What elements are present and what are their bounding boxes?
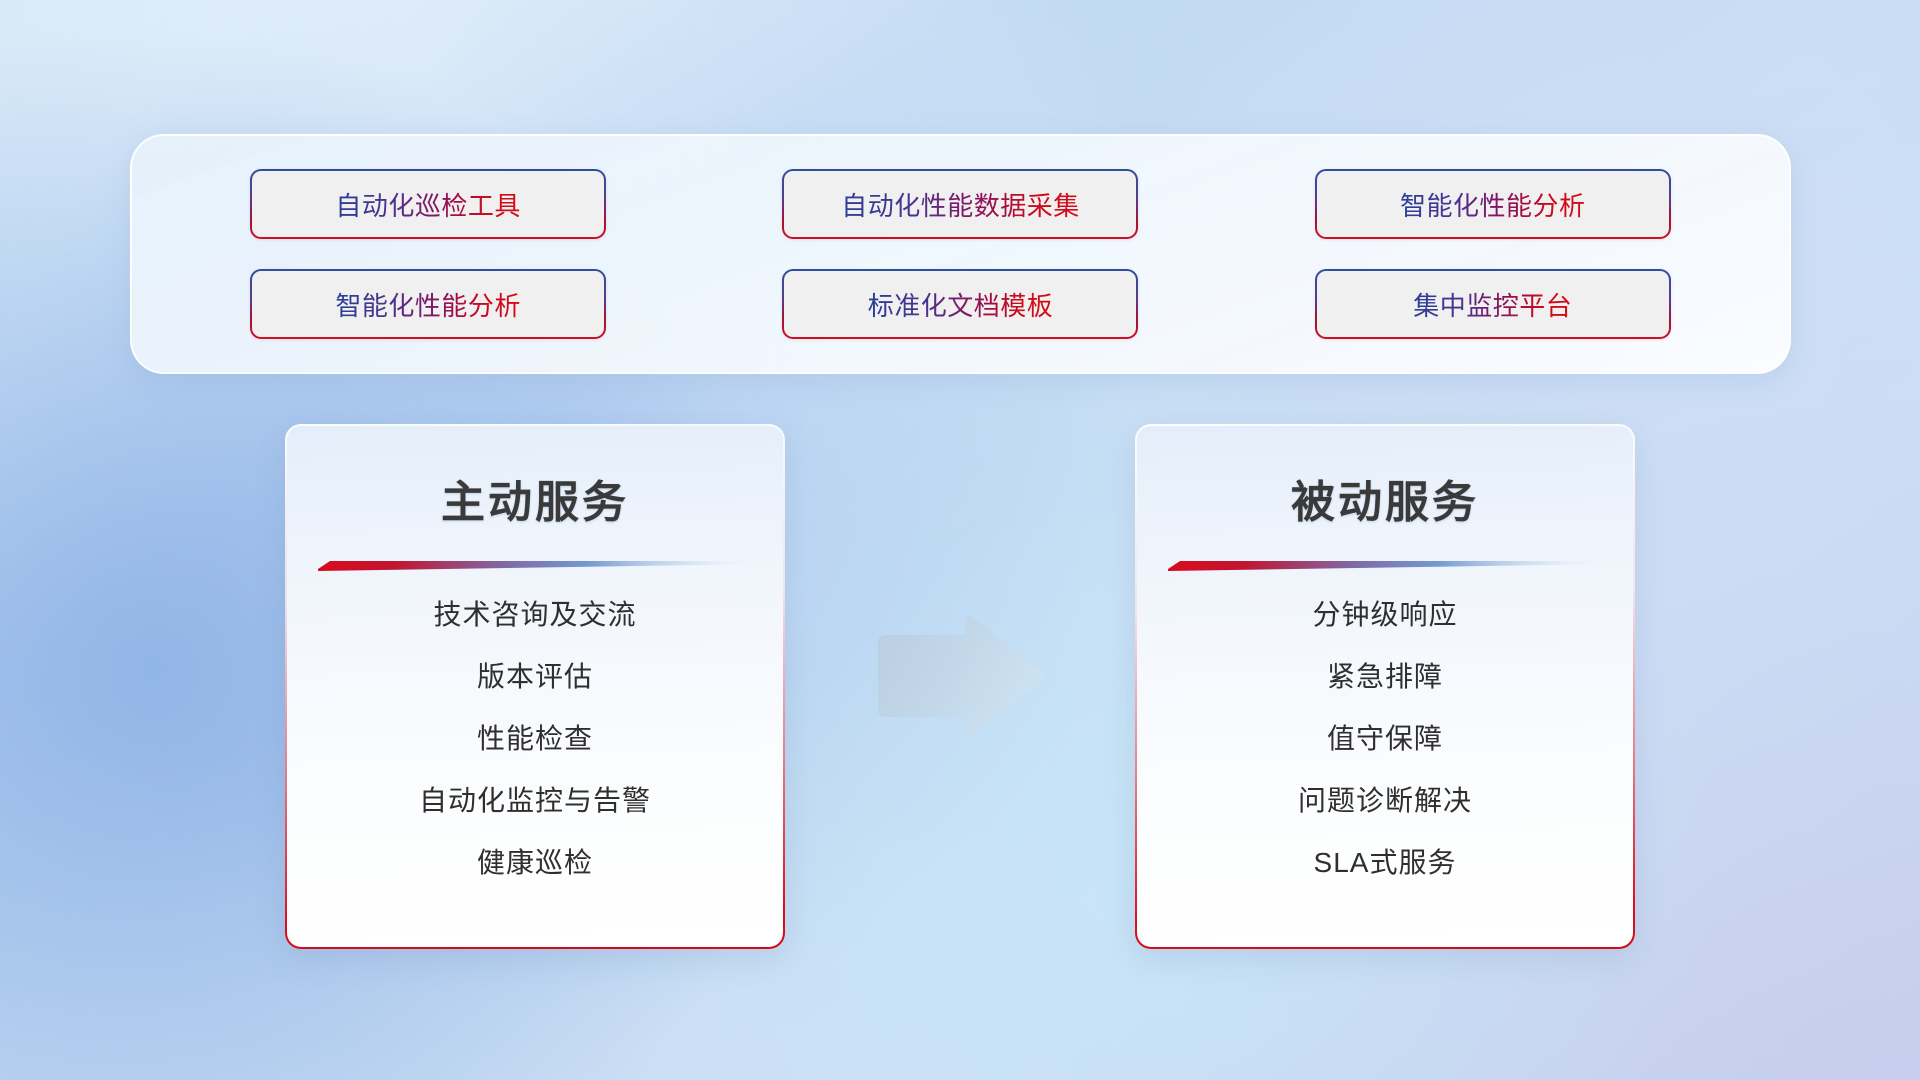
active-service-card-inner: 主动服务	[287, 426, 783, 947]
active-service-title: 主动服务	[441, 466, 629, 530]
active-service-divider	[318, 558, 752, 571]
service-item: 健康巡检	[477, 841, 593, 881]
passive-service-card-inner: 被动服务	[1137, 426, 1633, 947]
active-service-list: 技术咨询及交流 版本评估 性能检查 自动化监控与告警 健康巡检	[287, 593, 783, 881]
service-item: 版本评估	[477, 655, 593, 695]
capability-pill-label: 标准化文档模板	[868, 286, 1054, 323]
capability-pill[interactable]: 自动化巡检工具	[250, 169, 606, 239]
service-item: SLA式服务	[1314, 841, 1457, 881]
passive-service-divider	[1168, 558, 1602, 571]
slide-canvas: 自动化巡检工具 自动化性能数据采集 智能化性能分析 智能化性能分析	[0, 0, 1920, 1080]
service-item: 紧急排障	[1327, 655, 1443, 695]
capability-pill-label: 自动化性能数据采集	[841, 186, 1080, 223]
capability-pill[interactable]: 智能化性能分析	[1315, 169, 1671, 239]
capability-pill-inner: 自动化性能数据采集	[784, 171, 1136, 237]
capability-pill[interactable]: 自动化性能数据采集	[782, 169, 1138, 239]
capability-pill-inner: 集中监控平台	[1317, 271, 1669, 337]
capability-pill[interactable]: 标准化文档模板	[782, 269, 1138, 339]
capability-pill-label: 智能化性能分析	[1400, 186, 1586, 223]
service-item: 分钟级响应	[1312, 593, 1457, 633]
capability-pill-inner: 标准化文档模板	[784, 271, 1136, 337]
service-item: 自动化监控与告警	[419, 779, 651, 819]
capability-pill-label: 自动化巡检工具	[335, 186, 521, 223]
capability-pill-inner: 自动化巡检工具	[252, 171, 604, 237]
capability-pill-inner: 智能化性能分析	[1317, 171, 1669, 237]
capability-pill[interactable]: 集中监控平台	[1315, 269, 1671, 339]
capability-pill-label: 智能化性能分析	[335, 286, 521, 323]
service-item: 性能检查	[477, 717, 593, 757]
service-item: 问题诊断解决	[1298, 779, 1472, 819]
active-service-card: 主动服务	[285, 424, 785, 949]
capability-panel: 自动化巡检工具 自动化性能数据采集 智能化性能分析 智能化性能分析	[130, 134, 1791, 374]
service-item: 技术咨询及交流	[433, 593, 636, 633]
passive-service-card: 被动服务	[1135, 424, 1635, 949]
capability-pill-inner: 智能化性能分析	[252, 271, 604, 337]
capability-pill-label: 集中监控平台	[1413, 286, 1572, 323]
passive-service-title: 被动服务	[1291, 466, 1479, 530]
passive-service-list: 分钟级响应 紧急排障 值守保障 问题诊断解决 SLA式服务	[1137, 593, 1633, 881]
capability-pill[interactable]: 智能化性能分析	[250, 269, 606, 339]
capability-grid: 自动化巡检工具 自动化性能数据采集 智能化性能分析 智能化性能分析	[132, 136, 1789, 372]
service-item: 值守保障	[1327, 717, 1443, 757]
arrow-right-icon	[870, 612, 1048, 740]
